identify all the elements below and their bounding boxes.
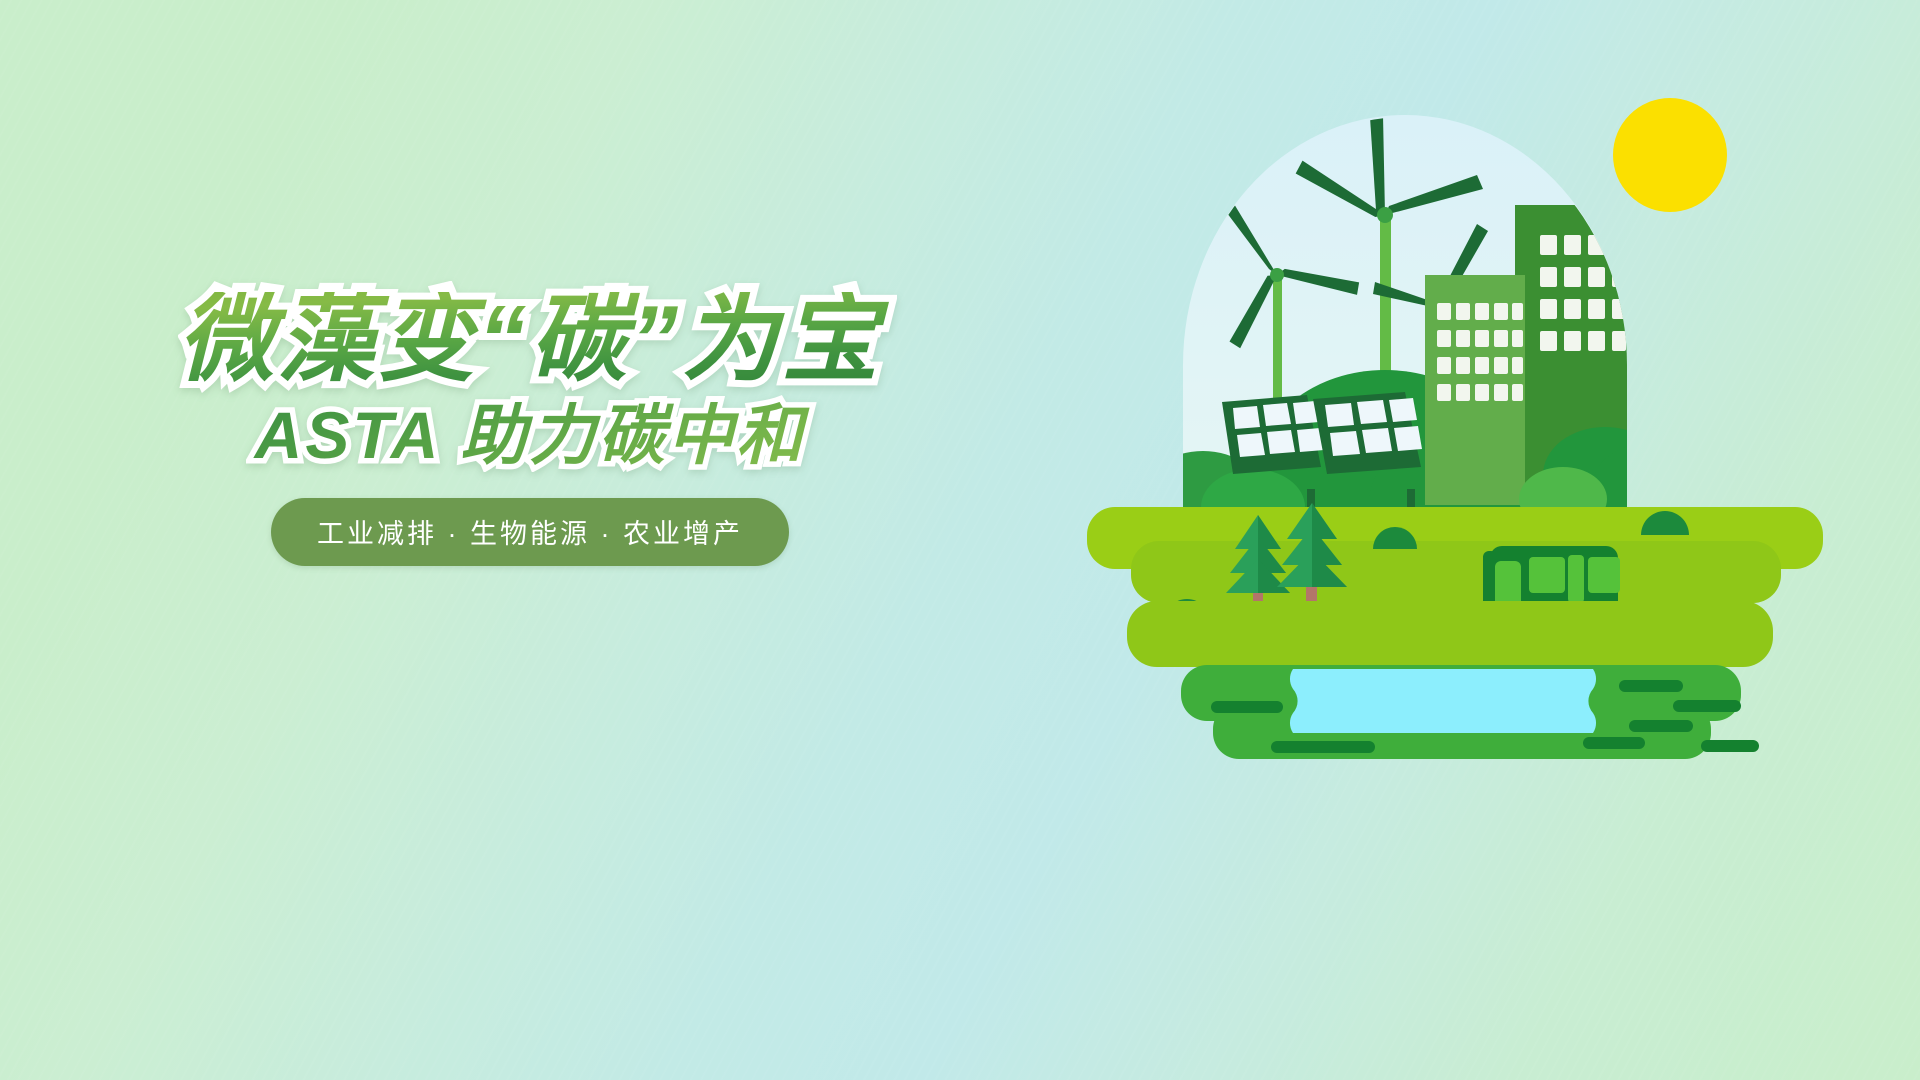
river-water	[1290, 669, 1596, 733]
river-band	[1181, 665, 1759, 759]
page-title-fill: 微藻变“碳”为宝	[0, 292, 1060, 388]
page-subtitle: ASTA 助力碳中和 ASTA 助力碳中和	[0, 402, 1060, 468]
grass-layer-top	[1087, 507, 1823, 603]
badge-row: 工业减排 · 生物能源 · 农业增产	[0, 498, 1060, 566]
page-subtitle-fill: ASTA 助力碳中和	[0, 402, 1060, 468]
tagline-badge: 工业减排 · 生物能源 · 农业增产	[271, 498, 789, 566]
green-city-illustration	[1085, 75, 1825, 795]
headline-block: 微藻变“碳”为宝 微藻变“碳”为宝 ASTA 助力碳中和 ASTA 助力碳中和 …	[0, 292, 1060, 566]
page-title: 微藻变“碳”为宝 微藻变“碳”为宝	[0, 292, 1060, 388]
grass-layer-bottom	[1127, 601, 1773, 667]
eco-banner: 微藻变“碳”为宝 微藻变“碳”为宝 ASTA 助力碳中和 ASTA 助力碳中和 …	[0, 0, 1920, 1080]
building-short	[1425, 275, 1525, 505]
sun-icon	[1613, 98, 1727, 212]
